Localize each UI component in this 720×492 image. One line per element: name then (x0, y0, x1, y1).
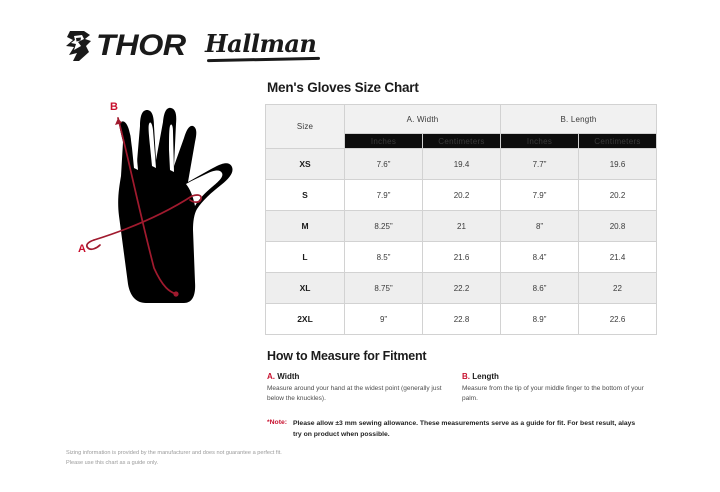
cell-length-inches: 8.4” (501, 242, 579, 273)
measure-instruction-width: A. Width Measure around your hand at the… (267, 372, 462, 404)
column-header-length: B. Length (501, 105, 657, 134)
table-row: XL 8.75” 22.2 8.6” 22 (266, 273, 657, 304)
measure-length-name: Length (472, 372, 499, 381)
measure-width-body: Measure around your hand at the widest p… (267, 384, 450, 404)
thor-logo: THOR (64, 30, 179, 62)
thor-helmet-mark-icon (64, 30, 94, 62)
how-to-measure-section: How to Measure for Fitment A. Width Meas… (265, 349, 657, 441)
measure-width-letter: A. (267, 372, 275, 381)
cell-width-centimeters: 22.2 (423, 273, 501, 304)
size-chart-panel: Men's Gloves Size Chart Size A. Width B.… (265, 80, 657, 441)
cell-length-inches: 7.7” (501, 149, 579, 180)
measure-length-heading: B. Length (462, 372, 645, 381)
cell-length-centimeters: 19.6 (579, 149, 657, 180)
measure-length-letter: B. (462, 372, 470, 381)
size-chart-table: Size A. Width B. Length Inches Centimete… (265, 104, 657, 335)
table-body: XS 7.6” 19.4 7.7” 19.6 S 7.9” 20.2 7.9” … (266, 149, 657, 335)
measure-instruction-length: B. Length Measure from the tip of your m… (462, 372, 657, 404)
measure-length-body: Measure from the tip of your middle fing… (462, 384, 645, 404)
table-row: XS 7.6” 19.4 7.7” 19.6 (266, 149, 657, 180)
cell-width-inches: 8.5” (345, 242, 423, 273)
cell-length-inches: 8.6” (501, 273, 579, 304)
footer-line-2: Please use this chart as a guide only. (66, 459, 396, 469)
cell-width-centimeters: 21 (423, 211, 501, 242)
cell-width-inches: 7.6” (345, 149, 423, 180)
measure-width-heading: A. Width (267, 372, 450, 381)
cell-size: M (266, 211, 345, 242)
cell-length-centimeters: 22.6 (579, 304, 657, 335)
cell-width-inches: 8.75” (345, 273, 423, 304)
measure-width-name: Width (277, 372, 299, 381)
note-row: *Note: Please allow ±3 mm sewing allowan… (267, 419, 657, 441)
cell-size: 2XL (266, 304, 345, 335)
diagram-label-a: A (78, 243, 86, 255)
cell-size: S (266, 180, 345, 211)
cell-size: XL (266, 273, 345, 304)
cell-size: L (266, 242, 345, 273)
cell-length-centimeters: 20.2 (579, 180, 657, 211)
cell-length-centimeters: 21.4 (579, 242, 657, 273)
thor-wordmark: THOR (96, 31, 186, 61)
table-row: L 8.5” 21.6 8.4” 21.4 (266, 242, 657, 273)
column-header-length-centimeters: Centimeters (579, 134, 657, 149)
cell-width-centimeters: 22.8 (423, 304, 501, 335)
column-header-width-inches: Inches (345, 134, 423, 149)
note-label: *Note: (267, 419, 287, 426)
hallman-logo: Hallman (205, 32, 316, 61)
cell-length-inches: 8.9” (501, 304, 579, 335)
brand-header: THOR Hallman (64, 30, 316, 62)
cell-length-centimeters: 20.8 (579, 211, 657, 242)
diagram-label-b: B (110, 101, 118, 113)
page-title: Men's Gloves Size Chart (267, 80, 657, 95)
column-header-size: Size (266, 105, 345, 149)
footer-line-1: Sizing information is provided by the ma… (66, 449, 396, 459)
cell-length-centimeters: 22 (579, 273, 657, 304)
column-header-width: A. Width (345, 105, 501, 134)
how-to-measure-title: How to Measure for Fitment (267, 349, 657, 363)
cell-length-inches: 7.9” (501, 180, 579, 211)
table-row: 2XL 9” 22.8 8.9” 22.6 (266, 304, 657, 335)
table-row: M 8.25” 21 8” 20.8 (266, 211, 657, 242)
hand-measurement-diagram: A B (66, 96, 266, 321)
note-text: Please allow ±3 mm sewing allowance. The… (293, 419, 643, 441)
hallman-wordmark: Hallman (205, 29, 316, 58)
cell-width-inches: 7.9” (345, 180, 423, 211)
cell-width-centimeters: 21.6 (423, 242, 501, 273)
cell-width-inches: 8.25” (345, 211, 423, 242)
cell-length-inches: 8” (501, 211, 579, 242)
column-header-length-inches: Inches (501, 134, 579, 149)
cell-size: XS (266, 149, 345, 180)
table-row: S 7.9” 20.2 7.9” 20.2 (266, 180, 657, 211)
cell-width-centimeters: 19.4 (423, 149, 501, 180)
footer-disclaimer: Sizing information is provided by the ma… (66, 449, 396, 469)
cell-width-inches: 9” (345, 304, 423, 335)
hand-silhouette-icon: A B (66, 96, 266, 321)
cell-width-centimeters: 20.2 (423, 180, 501, 211)
column-header-width-centimeters: Centimeters (423, 134, 501, 149)
table-header: Size A. Width B. Length Inches Centimete… (266, 105, 657, 149)
table-header-row-groups: Size A. Width B. Length (266, 105, 657, 134)
